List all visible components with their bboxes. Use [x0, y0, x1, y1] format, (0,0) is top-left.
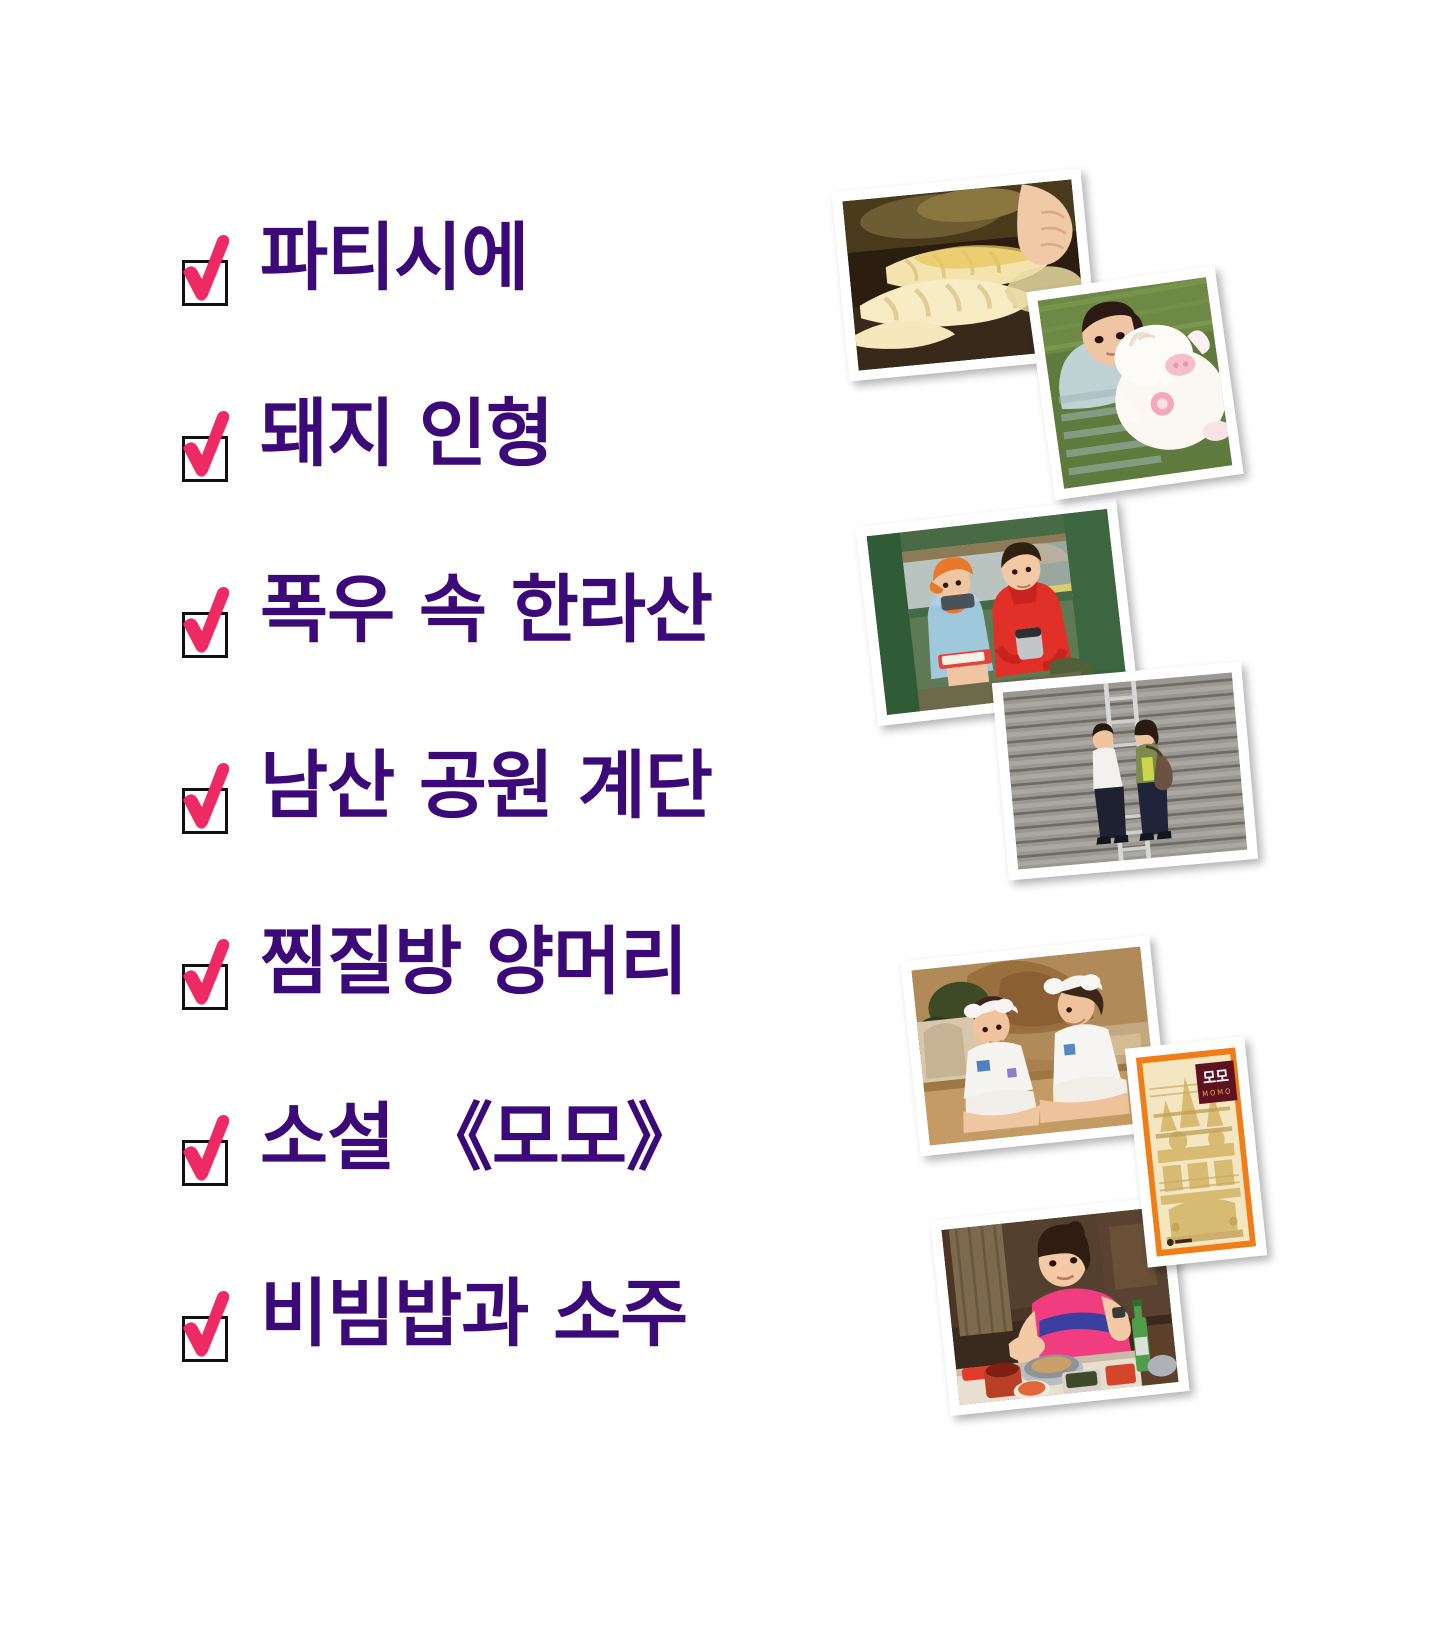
page-canvas: 파티시에 돼지 인형 — [0, 0, 1440, 1637]
sauna-sheep-head-image — [911, 946, 1158, 1145]
photo-collage: 모모 MOMO — [0, 0, 1440, 1637]
photo-pig-plush-doll — [1026, 266, 1243, 500]
photo-sauna-sheep-head — [900, 935, 1169, 1156]
photo-momo-book-cover: 모모 MOMO — [1125, 1036, 1267, 1267]
svg-text:모모: 모모 — [1202, 1067, 1230, 1087]
photo-park-stairs — [992, 661, 1258, 880]
momo-book-cover-image: 모모 MOMO — [1136, 1047, 1256, 1256]
bibimbap-soju-image — [941, 1207, 1178, 1405]
park-stairs-image — [1003, 672, 1248, 869]
pig-plush-doll-image — [1038, 277, 1233, 489]
